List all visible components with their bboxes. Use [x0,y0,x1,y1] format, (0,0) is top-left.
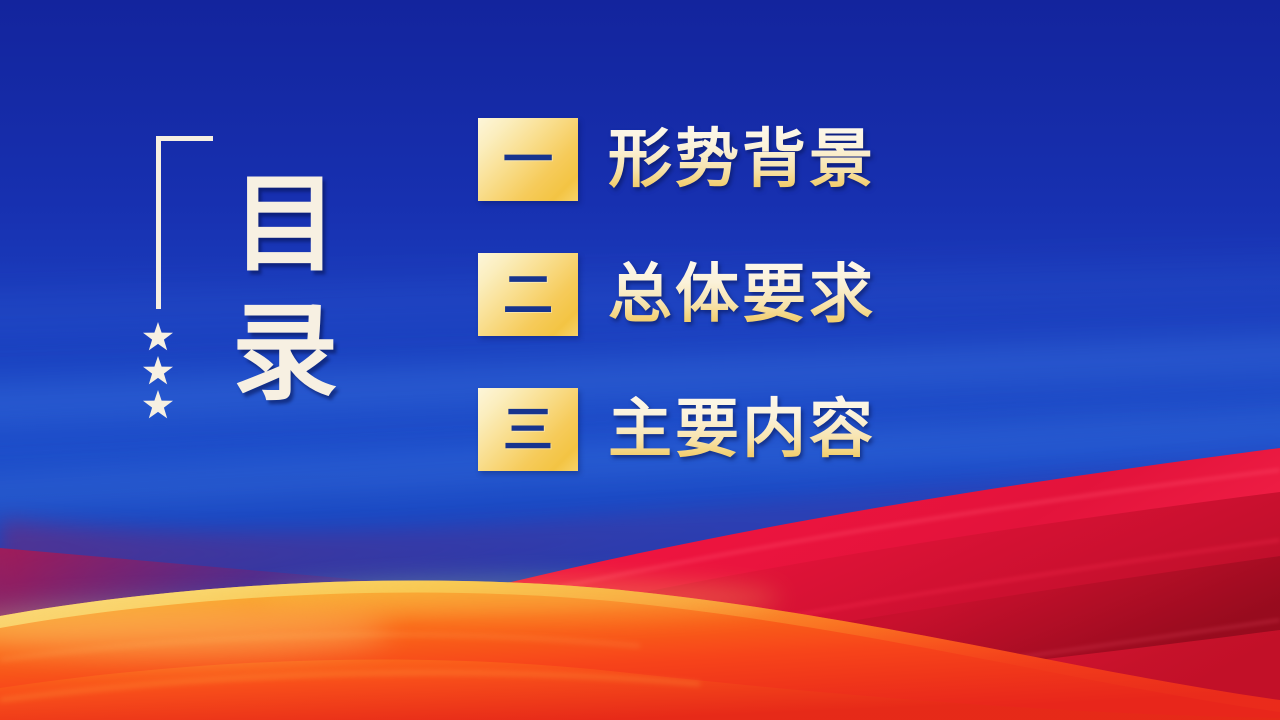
page-title: 目 录 [210,170,360,411]
star-icon [143,356,173,385]
menu-numeral-1: 一 [503,135,553,185]
menu-item-2[interactable]: 二 总体要求 [478,253,876,336]
contents-slide: 目 录 一 形势背景 二 总体要求 三 主要内容 [0,0,1280,720]
menu-numeral-2: 二 [503,270,553,320]
star-group [143,322,173,419]
contents-title-block: 目 录 [140,130,370,460]
title-char-lu: 录 [232,299,338,410]
menu-label-3[interactable]: 主要内容 [608,395,876,464]
corner-bracket-decoration [156,136,213,309]
star-icon [143,390,173,419]
menu-label-2[interactable]: 总体要求 [608,260,876,329]
menu-numeral-3: 三 [503,405,553,455]
menu-item-3[interactable]: 三 主要内容 [478,388,876,471]
star-icon [143,322,173,351]
contents-menu: 一 形势背景 二 总体要求 三 主要内容 [478,118,876,471]
title-char-mu: 目 [232,170,338,281]
menu-number-badge-1: 一 [478,118,578,201]
menu-number-badge-2: 二 [478,253,578,336]
menu-item-1[interactable]: 一 形势背景 [478,118,876,201]
menu-label-1[interactable]: 形势背景 [608,125,876,194]
menu-number-badge-3: 三 [478,388,578,471]
